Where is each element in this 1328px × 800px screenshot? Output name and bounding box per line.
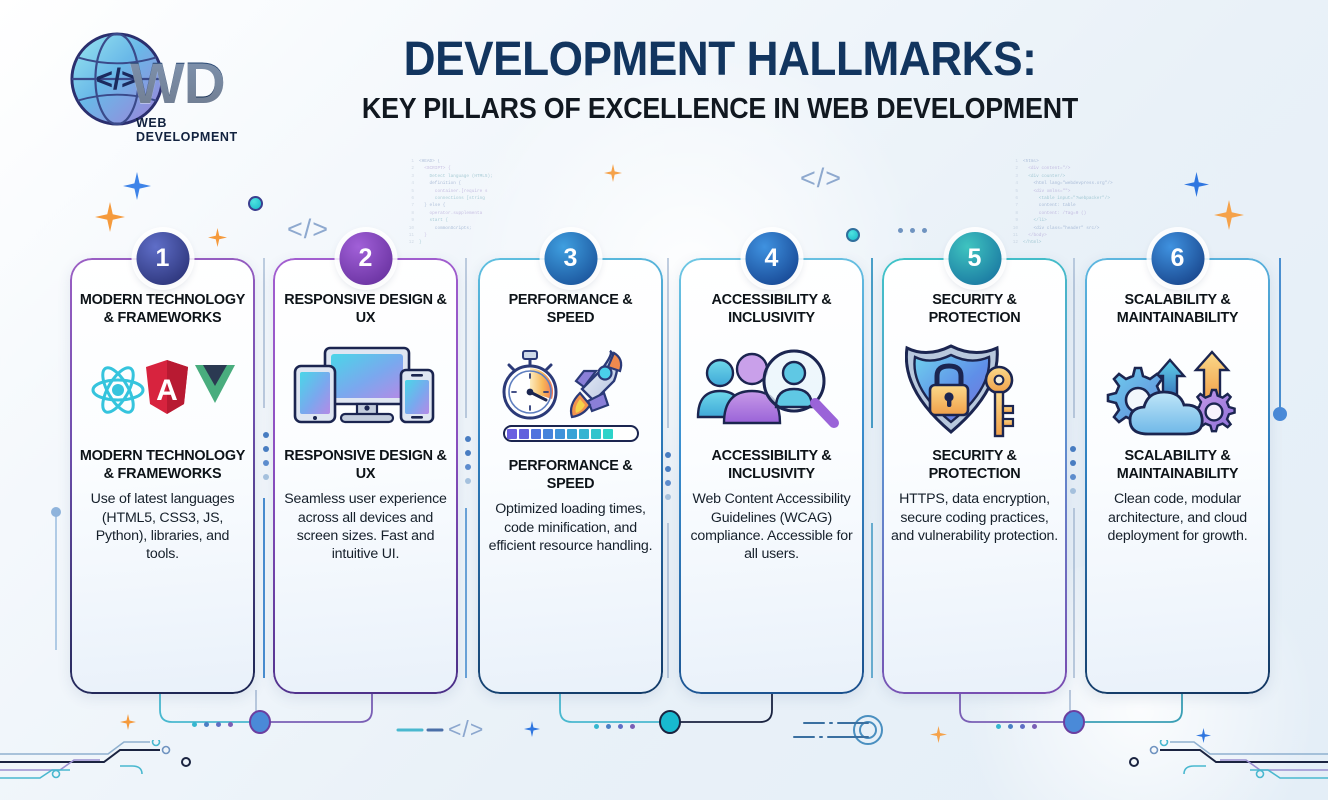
card-description: Optimized loading times, code minificati… [487, 500, 654, 555]
card-description: Clean code, modular architecture, and cl… [1094, 490, 1261, 545]
card-description: HTTPS, data encryption, secure coding pr… [891, 490, 1058, 545]
card-artwork [487, 336, 654, 454]
svg-text:A: A [156, 374, 178, 407]
card-title: ACCESSIBILITY & INCLUSIVITY [688, 292, 855, 328]
card-title: MODERN TECHNOLOGY & FRAMEWORKS [79, 292, 246, 328]
card-number-badge: 6 [1151, 232, 1204, 285]
angular-icon: A [146, 360, 188, 414]
card-title: RESPONSIVE DESIGN & UX [282, 292, 449, 328]
desktop-monitor-icon [325, 348, 409, 422]
card-description: Use of latest languages (HTML5, CSS3, JS… [79, 490, 246, 563]
brand-logo: </> WD WEB DEVELOPMENT [68, 28, 268, 138]
logo-subtitle: WEB DEVELOPMENT [136, 116, 268, 144]
key-icon [986, 367, 1013, 436]
pillar-card-1[interactable]: 1 MODERN TECHNOLOGY & FRAMEWORKS [70, 258, 255, 694]
progress-segment [579, 429, 589, 439]
card-artwork [891, 336, 1058, 444]
progress-segment [519, 429, 529, 439]
pillar-card-5[interactable]: 5 SECURITY & PROTECTION [882, 258, 1067, 694]
progress-segment [555, 429, 565, 439]
progress-bar [503, 425, 639, 442]
pillar-card-6[interactable]: 6 SCALABILITY & MAINTAINABILITY [1085, 258, 1270, 694]
progress-segment [531, 429, 541, 439]
pillar-card-3[interactable]: 3 PERFORMANCE & SPEED [478, 258, 663, 694]
card-title-repeat: PERFORMANCE & SPEED [487, 458, 654, 494]
card-title-repeat: MODERN TECHNOLOGY & FRAMEWORKS [79, 448, 246, 484]
progress-segment [603, 429, 613, 439]
title-block: DEVELOPMENT HALLMARKS: KEY PILLARS OF EX… [280, 36, 1160, 126]
vue-icon [195, 365, 235, 403]
infographic-canvas: </> </> </> 1<HEAD> {2 <SCRIPT> {3 Detec… [0, 0, 1328, 800]
card-artwork: A [79, 336, 246, 444]
people-magnifier-icon [694, 345, 850, 435]
card-title-repeat: RESPONSIVE DESIGN & UX [282, 448, 449, 484]
card-title-repeat: ACCESSIBILITY & INCLUSIVITY [688, 448, 855, 484]
card-title: PERFORMANCE & SPEED [487, 292, 654, 328]
rocket-icon [571, 351, 621, 417]
pillar-card-2[interactable]: 2 RESPONSIVE DESIGN & UX [273, 258, 458, 694]
tablet-icon [295, 366, 335, 422]
card-title-repeat: SECURITY & PROTECTION [891, 448, 1058, 484]
card-artwork [282, 336, 449, 444]
card-number-badge: 4 [745, 232, 798, 285]
react-icon [93, 363, 143, 416]
card-description: Web Content Accessibility Guidelines (WC… [688, 490, 855, 563]
page-subtitle: KEY PILLARS OF EXCELLENCE IN WEB DEVELOP… [306, 93, 1133, 126]
stopwatch-icon [504, 351, 556, 418]
multi-device-icon [291, 344, 441, 436]
page-header: </> WD WEB DEVELOPMENT DEVELOPMENT HALLM… [0, 0, 1328, 150]
progress-segment [543, 429, 553, 439]
card-number-badge: 5 [948, 232, 1001, 285]
card-title: SCALABILITY & MAINTAINABILITY [1094, 292, 1261, 328]
logo-wordmark: WD [130, 50, 225, 117]
progress-segment [591, 429, 601, 439]
progress-segment [567, 429, 577, 439]
page-title: DEVELOPMENT HALLMARKS: [315, 36, 1125, 85]
progress-segment [507, 429, 517, 439]
card-number-badge: 1 [136, 232, 189, 285]
card-artwork [1094, 336, 1261, 444]
card-artwork [688, 336, 855, 444]
card-description: Seamless user experience across all devi… [282, 490, 449, 563]
card-title-repeat: SCALABILITY & MAINTAINABILITY [1094, 448, 1261, 484]
pillar-card-4[interactable]: 4 ACCESSIBILITY & INCLUSIVITY [679, 258, 864, 694]
card-number-badge: 2 [339, 232, 392, 285]
card-title: SECURITY & PROTECTION [891, 292, 1058, 328]
card-number-badge: 3 [544, 232, 597, 285]
smartphone-icon [401, 370, 433, 422]
